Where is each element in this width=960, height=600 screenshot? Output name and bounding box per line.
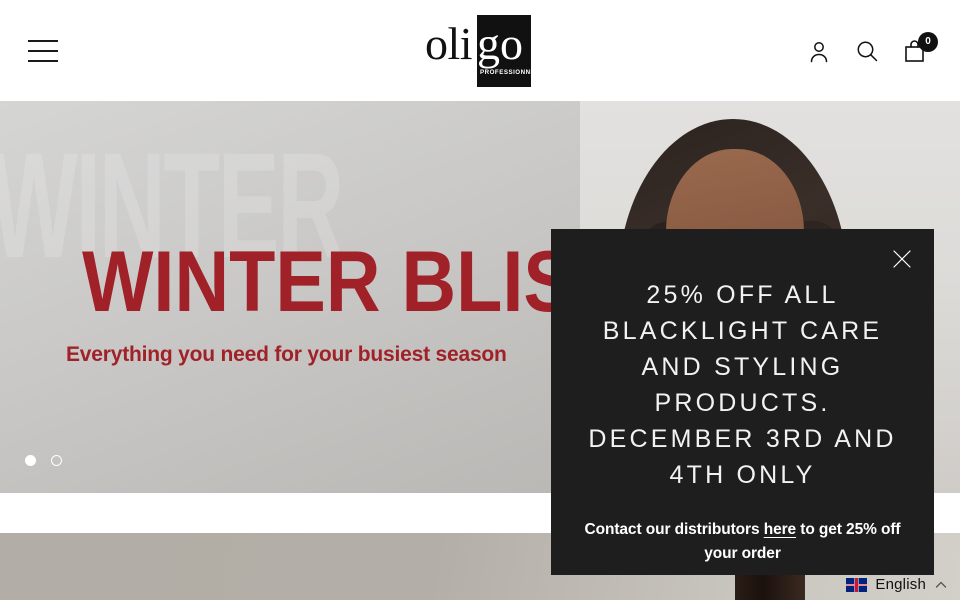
slider-dot-2[interactable]: [51, 455, 62, 466]
menu-line-1: [28, 40, 58, 42]
language-selector[interactable]: English: [842, 573, 952, 596]
cart-count-badge: 0: [918, 32, 938, 52]
menu-line-2: [28, 50, 58, 52]
promo-modal-heading: 25% OFF ALL BLACKLIGHT CARE AND STYLING …: [581, 277, 904, 493]
hamburger-menu-icon[interactable]: [28, 40, 58, 62]
person-icon[interactable]: [806, 38, 832, 64]
close-icon[interactable]: [884, 241, 920, 277]
logo-word: oli: [425, 21, 472, 67]
hero-subtitle: Everything you need for your busiest sea…: [66, 343, 507, 367]
shopping-bag-icon[interactable]: 0: [902, 36, 932, 66]
slider-dot-1[interactable]: [25, 455, 36, 466]
page-root: oli go PROFESSIONNEL: [0, 0, 960, 600]
menu-line-3: [28, 60, 58, 62]
distributors-link[interactable]: here: [764, 521, 796, 538]
search-icon[interactable]: [854, 38, 880, 64]
site-logo[interactable]: oli go PROFESSIONNEL: [425, 15, 535, 87]
logo-subtitle: PROFESSIONNEL: [480, 69, 530, 76]
promo-modal: 25% OFF ALL BLACKLIGHT CARE AND STYLING …: [551, 229, 934, 575]
hero-title: WINTER BLISS: [82, 239, 624, 325]
logo-word-boxed: go: [477, 21, 523, 67]
promo-body-before: Contact our distributors: [585, 521, 764, 538]
promo-modal-body: Contact our distributors here to get 25%…: [581, 518, 904, 566]
header-actions: 0: [806, 36, 932, 66]
slider-dots: [25, 455, 62, 466]
chevron-up-icon: [934, 578, 948, 592]
site-header: oli go PROFESSIONNEL: [0, 0, 960, 101]
uk-flag-icon: [846, 578, 867, 592]
language-label: English: [875, 576, 926, 593]
